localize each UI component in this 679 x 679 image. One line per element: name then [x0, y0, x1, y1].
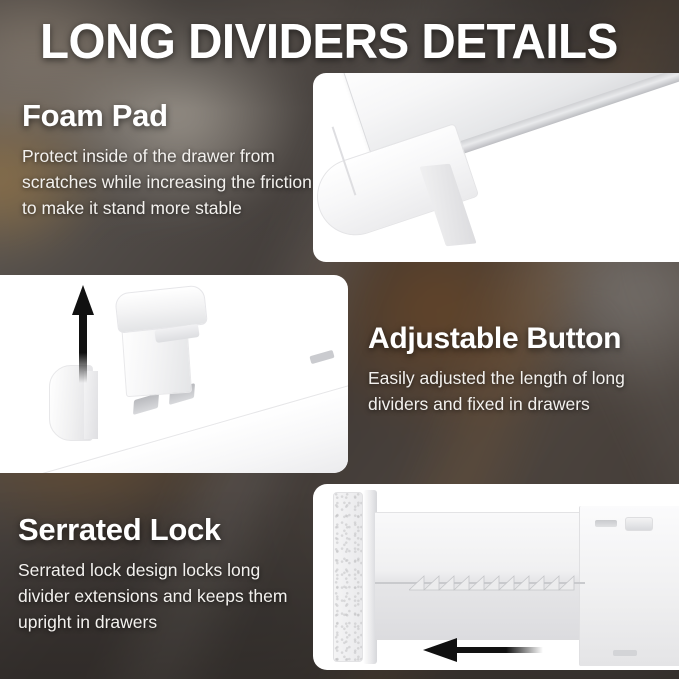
- page-title: LONG DIVIDERS DETAILS: [40, 14, 618, 70]
- feature-heading-foam-pad: Foam Pad: [22, 98, 312, 134]
- feature-body-adjustable-button: Easily adjusted the length of long divid…: [368, 365, 668, 417]
- slide-notch: [595, 520, 617, 527]
- serrated-teeth-icon: [409, 568, 589, 594]
- left-arrow-icon: [423, 638, 543, 662]
- feature-block-serrated-lock: Serrated Lock Serrated lock design locks…: [18, 512, 308, 635]
- feature-block-foam-pad: Foam Pad Protect inside of the drawer fr…: [22, 98, 312, 221]
- product-image-adjustable-button: [0, 275, 348, 473]
- slide-clip: [625, 517, 653, 531]
- feature-heading-adjustable-button: Adjustable Button: [368, 322, 668, 356]
- adjust-slot: [309, 350, 334, 364]
- infographic-canvas: LONG DIVIDERS DETAILS Foam Pad Protect i…: [0, 0, 679, 679]
- foam-pad-part: [333, 492, 363, 662]
- up-arrow-icon: [72, 285, 94, 383]
- product-image-foam-pad: [313, 73, 679, 262]
- product-image-serrated-lock: [313, 484, 679, 670]
- feature-block-adjustable-button: Adjustable Button Easily adjusted the le…: [368, 322, 668, 417]
- feature-body-serrated-lock: Serrated lock design locks long divider …: [18, 557, 308, 635]
- slide-foot: [613, 650, 637, 656]
- feature-body-foam-pad: Protect inside of the drawer from scratc…: [22, 143, 312, 221]
- feature-heading-serrated-lock: Serrated Lock: [18, 512, 308, 548]
